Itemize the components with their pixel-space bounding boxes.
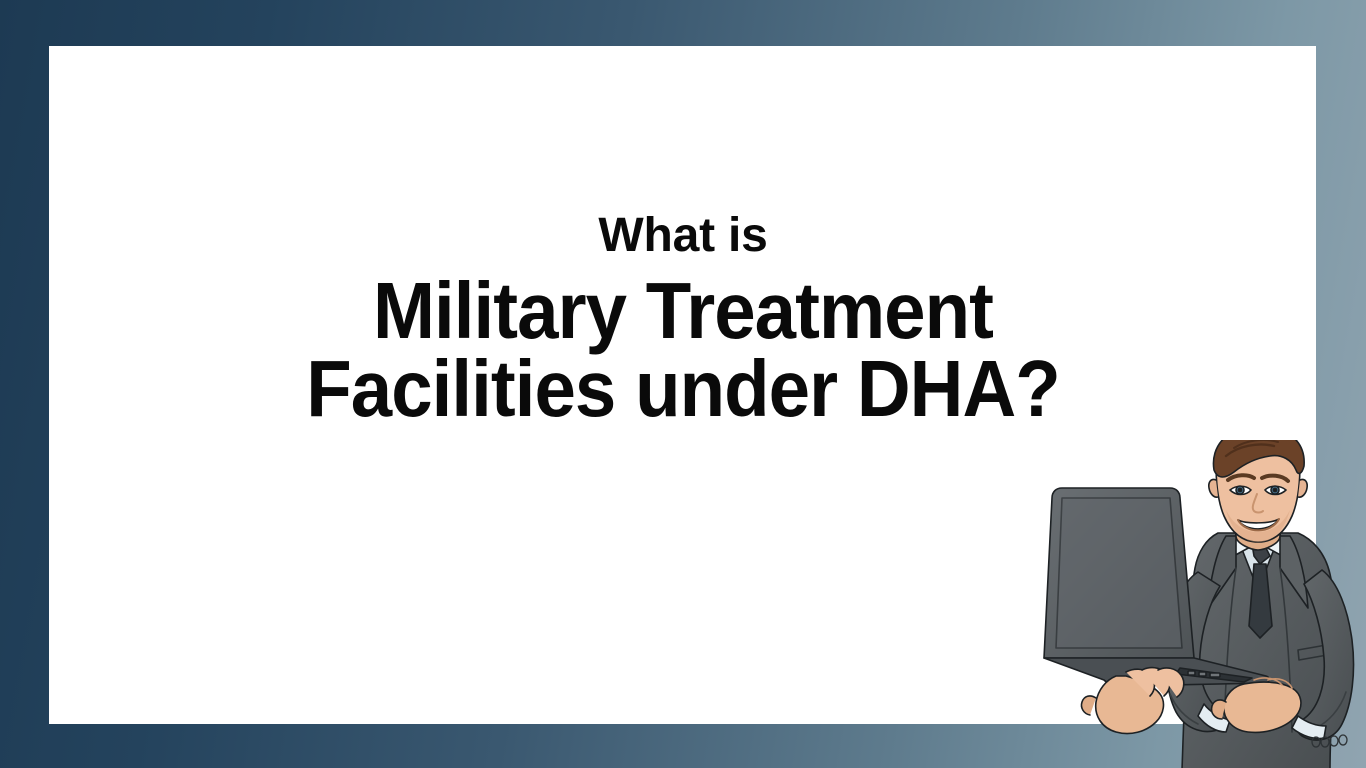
title-block: What is Military Treatment Facilities un… [0, 212, 1366, 429]
slide-root: What is Military Treatment Facilities un… [0, 0, 1366, 768]
title-eyebrow: What is [0, 212, 1366, 260]
page-title: Military Treatment Facilities under DHA? [48, 272, 1318, 429]
headline-line-2: Facilities under DHA? [48, 350, 1318, 428]
headline-line-1: Military Treatment [48, 272, 1318, 350]
